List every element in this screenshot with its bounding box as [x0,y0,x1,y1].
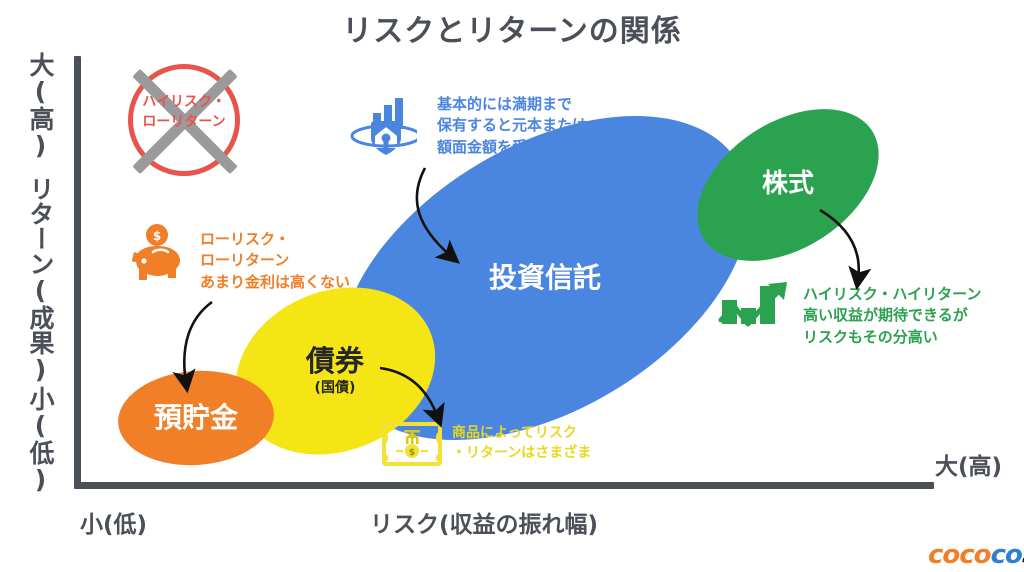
note-bond-line1: 基本的には満期まで [437,94,587,115]
x-axis-line [74,482,934,489]
x-axis-right-label: 大(高) [935,447,1002,481]
note-fund: 商品によってリスク ・リターンはさまざま [452,424,591,464]
note-bond-line3: 額面金額を受け取れる [437,137,587,158]
note-deposit-line2: ローリターン [200,250,350,271]
svg-text:$: $ [409,448,415,458]
category-label-fund: 投資信託 [489,262,601,294]
diagram-canvas: リスクとリターンの関係 大(高) リターン(成果) 小(低) 小(低) リスク(… [0,0,1024,572]
piggy-bank-icon: $ [128,224,186,290]
banknote-icon: $ [382,421,442,471]
y-axis-bottom-label: 小(低) [28,386,53,494]
page-title: リスクとリターンの関係 [0,6,1024,50]
x-axis-left-label: 小(低) [80,505,147,539]
note-bond-line2: 保有すると元本または [437,115,587,136]
note-deposit-line3: あまり金利は高くない [200,272,350,293]
logo-part-2: co [991,540,1022,570]
note-stock-line3: リスクもその分高い [803,327,981,348]
growth-chart-icon [718,278,796,338]
category-sublabel-bond: (国債) [306,381,364,397]
x-axis-title: リスク(収益の振れ幅) [370,505,598,539]
shield-house-chart-icon [345,96,417,162]
svg-text:$: $ [153,229,161,243]
note-stock-line2: 高い収益が期待できるが [803,305,981,326]
note-deposit: ローリスク・ ローリターン あまり金利は高くない [200,229,350,293]
note-deposit-line1: ローリスク・ [200,229,350,250]
category-label-bond-group: 債券 (国債) [306,345,364,396]
high-risk-low-return-badge: ハイリスク・ ローリターン [112,56,262,196]
note-stock: ハイリスク・ハイリターン 高い収益が期待できるが リスクもその分高い [803,284,981,348]
badge-text: ハイリスク・ ローリターン [122,92,246,133]
brand-logo: cococoSt [928,540,1024,570]
category-label-bond: 債券 [306,345,364,378]
category-label-stock: 株式 [762,170,814,200]
note-stock-line1: ハイリスク・ハイリターン [803,284,981,305]
y-axis-title: リターン(成果) [28,176,53,384]
note-bond: 基本的には満期まで 保有すると元本または 額面金額を受け取れる [437,94,587,158]
logo-part-1: coco [928,540,991,570]
note-fund-line2: ・リターンはさまざま [452,444,591,464]
badge-text-line2: ローリターン [122,112,246,132]
category-label-deposit: 預貯金 [154,402,238,434]
badge-text-line1: ハイリスク・ [122,92,246,112]
y-axis-top-label: 大(高) [28,52,53,160]
note-fund-line1: 商品によってリスク [452,424,591,444]
y-axis-line [74,56,81,488]
